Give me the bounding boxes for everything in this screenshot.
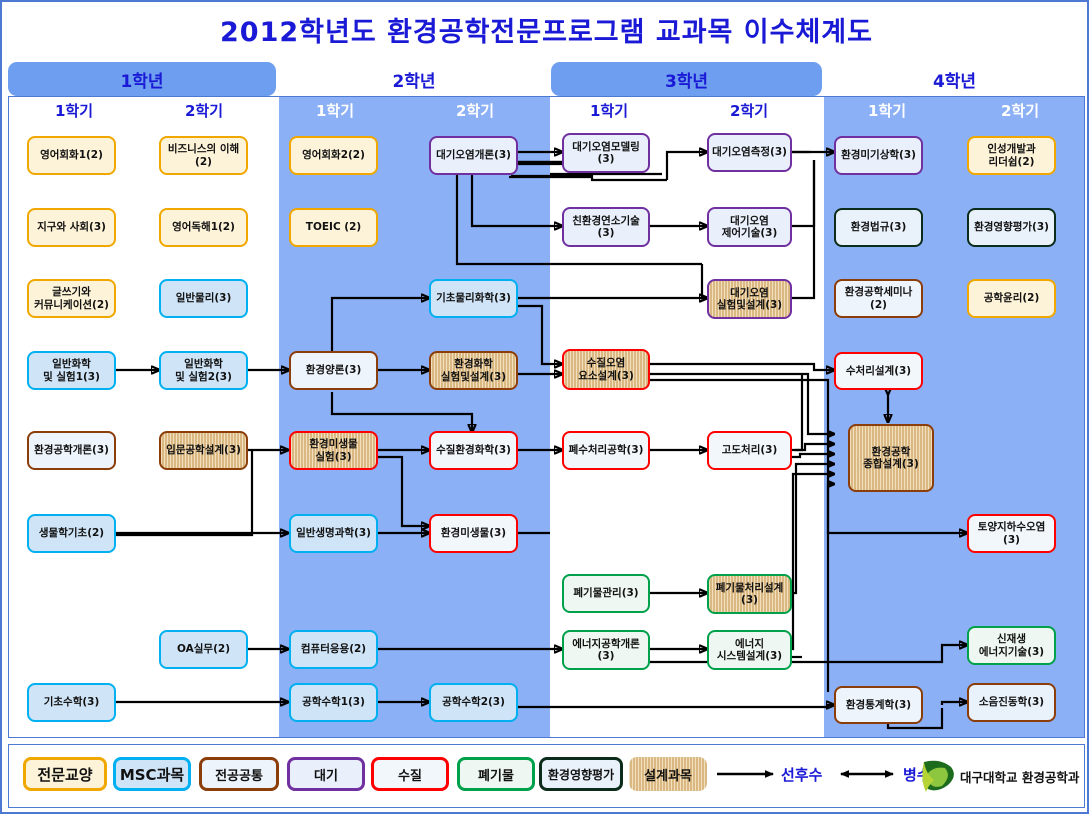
course-box[interactable]: 환경영향평가(3) bbox=[967, 208, 1056, 247]
course-box[interactable]: 폐기물관리(3) bbox=[562, 574, 650, 613]
course-box[interactable]: 생물학기초(2) bbox=[27, 514, 116, 553]
course-box[interactable]: 인성개발과리더쉽(2) bbox=[967, 136, 1056, 175]
course-label: 폐기물처리설계(3) bbox=[716, 582, 784, 607]
course-label: 대기오염실험및설계(3) bbox=[717, 287, 782, 312]
course-label: 신재생에너지기술(3) bbox=[979, 633, 1044, 658]
course-box[interactable]: 수처리설계(3) bbox=[834, 352, 923, 390]
course-box[interactable]: 환경화학실험및설계(3) bbox=[429, 351, 518, 390]
course-box[interactable]: 환경미기상학(3) bbox=[834, 136, 923, 175]
course-label: 폐기물관리(3) bbox=[573, 587, 638, 599]
course-label: 에너지공학개론(3) bbox=[572, 638, 640, 663]
course-label: 지구와 사회(3) bbox=[37, 221, 106, 233]
course-label: 환경공학세미나(2) bbox=[845, 286, 913, 311]
course-label: 입문공학설계(3) bbox=[166, 444, 241, 456]
course-label: 생물학기초(2) bbox=[39, 527, 104, 539]
course-box[interactable]: 일반화학및 실험1(3) bbox=[27, 351, 116, 390]
course-label: 글쓰기와커뮤니케이션(2) bbox=[34, 286, 109, 311]
course-label: 컴퓨터응용(2) bbox=[301, 643, 366, 655]
course-box[interactable]: 공학수학2(3) bbox=[429, 683, 518, 722]
course-label: 일반생명과학(3) bbox=[296, 527, 371, 539]
course-box[interactable]: 기초물리화학(3) bbox=[429, 279, 518, 318]
course-label: 소음진동학(3) bbox=[979, 696, 1044, 708]
course-box[interactable]: 환경미생물(3) bbox=[429, 514, 518, 553]
course-label: 일반물리(3) bbox=[176, 292, 232, 304]
edge-layer bbox=[2, 2, 1089, 814]
course-label: 대기오염개론(3) bbox=[436, 149, 511, 161]
course-label: 환경미기상학(3) bbox=[841, 149, 916, 161]
course-label: 수질환경화학(3) bbox=[436, 444, 511, 456]
course-label: 환경통계학(3) bbox=[846, 699, 911, 711]
course-label: 환경법규(3) bbox=[851, 221, 907, 233]
course-box[interactable]: 환경공학개론(3) bbox=[27, 431, 116, 470]
course-box[interactable]: 대기오염제어기술(3) bbox=[707, 207, 792, 247]
course-label: 환경미생물(3) bbox=[441, 527, 506, 539]
course-box[interactable]: 대기오염개론(3) bbox=[429, 136, 518, 175]
course-label: 환경미생물실험(3) bbox=[309, 438, 357, 463]
course-box[interactable]: 에너지시스템설계(3) bbox=[707, 630, 792, 670]
course-box[interactable]: 지구와 사회(3) bbox=[27, 208, 116, 247]
course-box[interactable]: 영어회화2(2) bbox=[289, 136, 378, 175]
course-box[interactable]: 일반화학및 실험2(3) bbox=[159, 351, 248, 390]
course-box[interactable]: 대기오염측정(3) bbox=[707, 133, 792, 172]
course-box[interactable]: 공학윤리(2) bbox=[967, 279, 1056, 318]
course-box[interactable]: 환경공학세미나(2) bbox=[834, 279, 923, 318]
course-box[interactable]: 일반생명과학(3) bbox=[289, 514, 378, 553]
course-label: OA실무(2) bbox=[177, 643, 230, 655]
course-label: 기초물리화학(3) bbox=[436, 292, 511, 304]
course-label: 공학윤리(2) bbox=[984, 292, 1040, 304]
course-box[interactable]: 친환경연소기술(3) bbox=[562, 207, 650, 247]
course-label: 고도처리(3) bbox=[722, 444, 778, 456]
course-label: 대기오염모델링(3) bbox=[572, 141, 640, 166]
course-label: 대기오염제어기술(3) bbox=[722, 215, 778, 240]
course-box[interactable]: 환경통계학(3) bbox=[834, 686, 923, 724]
course-label: 친환경연소기술(3) bbox=[572, 215, 640, 240]
course-label: 환경공학종합설계(3) bbox=[863, 446, 919, 471]
course-box[interactable]: 공학수학1(3) bbox=[289, 683, 378, 722]
course-label: 환경화학실험및설계(3) bbox=[441, 358, 506, 383]
course-box[interactable]: 신재생에너지기술(3) bbox=[967, 626, 1056, 665]
course-label: 폐수처리공학(3) bbox=[569, 444, 644, 456]
course-box[interactable]: 수질환경화학(3) bbox=[429, 431, 518, 470]
course-label: 토양지하수오염(3) bbox=[978, 521, 1046, 546]
course-label: 환경공학개론(3) bbox=[34, 444, 109, 456]
course-label: TOEIC (2) bbox=[306, 221, 361, 233]
course-box[interactable]: 환경법규(3) bbox=[834, 208, 923, 247]
course-label: 영어회화2(2) bbox=[302, 149, 365, 161]
course-box[interactable]: 토양지하수오염(3) bbox=[967, 514, 1056, 553]
course-label: 에너지시스템설계(3) bbox=[717, 638, 782, 663]
course-box[interactable]: TOEIC (2) bbox=[289, 208, 378, 247]
course-box[interactable]: 영어회화1(2) bbox=[27, 136, 116, 175]
course-label: 공학수학1(3) bbox=[302, 696, 365, 708]
course-box[interactable]: 소음진동학(3) bbox=[967, 683, 1056, 722]
course-box[interactable]: 환경미생물실험(3) bbox=[289, 431, 378, 470]
course-label: 인성개발과리더쉽(2) bbox=[987, 143, 1035, 168]
course-box[interactable]: 비즈니스의 이해(2) bbox=[159, 136, 248, 175]
course-box[interactable]: 입문공학설계(3) bbox=[159, 431, 248, 470]
course-box[interactable]: 대기오염모델링(3) bbox=[562, 133, 650, 173]
course-label: 수질오염요소설계(3) bbox=[578, 357, 634, 382]
course-box[interactable]: OA실무(2) bbox=[159, 630, 248, 669]
curriculum-flowchart: 2012학년도 환경공학전문프로그램 교과목 이수체계도 1학년 2학년 3학년… bbox=[0, 0, 1089, 814]
course-box[interactable]: 수질오염요소설계(3) bbox=[562, 349, 650, 390]
course-label: 환경양론(3) bbox=[306, 364, 362, 376]
course-box[interactable]: 폐수처리공학(3) bbox=[562, 431, 650, 470]
course-label: 수처리설계(3) bbox=[846, 365, 911, 377]
course-box[interactable]: 일반물리(3) bbox=[159, 279, 248, 318]
course-box[interactable]: 환경공학종합설계(3) bbox=[848, 424, 934, 492]
course-label: 공학수학2(3) bbox=[442, 696, 505, 708]
course-box[interactable]: 환경양론(3) bbox=[289, 351, 378, 390]
course-box[interactable]: 고도처리(3) bbox=[707, 431, 792, 470]
course-box[interactable]: 영어독해1(2) bbox=[159, 208, 248, 247]
course-box[interactable]: 글쓰기와커뮤니케이션(2) bbox=[27, 279, 116, 318]
course-label: 환경영향평가(3) bbox=[974, 221, 1049, 233]
course-box[interactable]: 폐기물처리설계(3) bbox=[707, 574, 792, 614]
course-label: 대기오염측정(3) bbox=[712, 146, 787, 158]
course-label: 영어회화1(2) bbox=[40, 149, 103, 161]
course-label: 일반화학및 실험2(3) bbox=[175, 358, 232, 383]
course-label: 일반화학및 실험1(3) bbox=[43, 358, 100, 383]
course-box[interactable]: 대기오염실험및설계(3) bbox=[707, 279, 792, 319]
course-box[interactable]: 컴퓨터응용(2) bbox=[289, 630, 378, 669]
course-box[interactable]: 에너지공학개론(3) bbox=[562, 630, 650, 670]
course-box[interactable]: 기초수학(3) bbox=[27, 683, 116, 722]
course-label: 비즈니스의 이해(2) bbox=[168, 143, 239, 168]
course-label: 기초수학(3) bbox=[44, 696, 100, 708]
course-label: 영어독해1(2) bbox=[172, 221, 235, 233]
